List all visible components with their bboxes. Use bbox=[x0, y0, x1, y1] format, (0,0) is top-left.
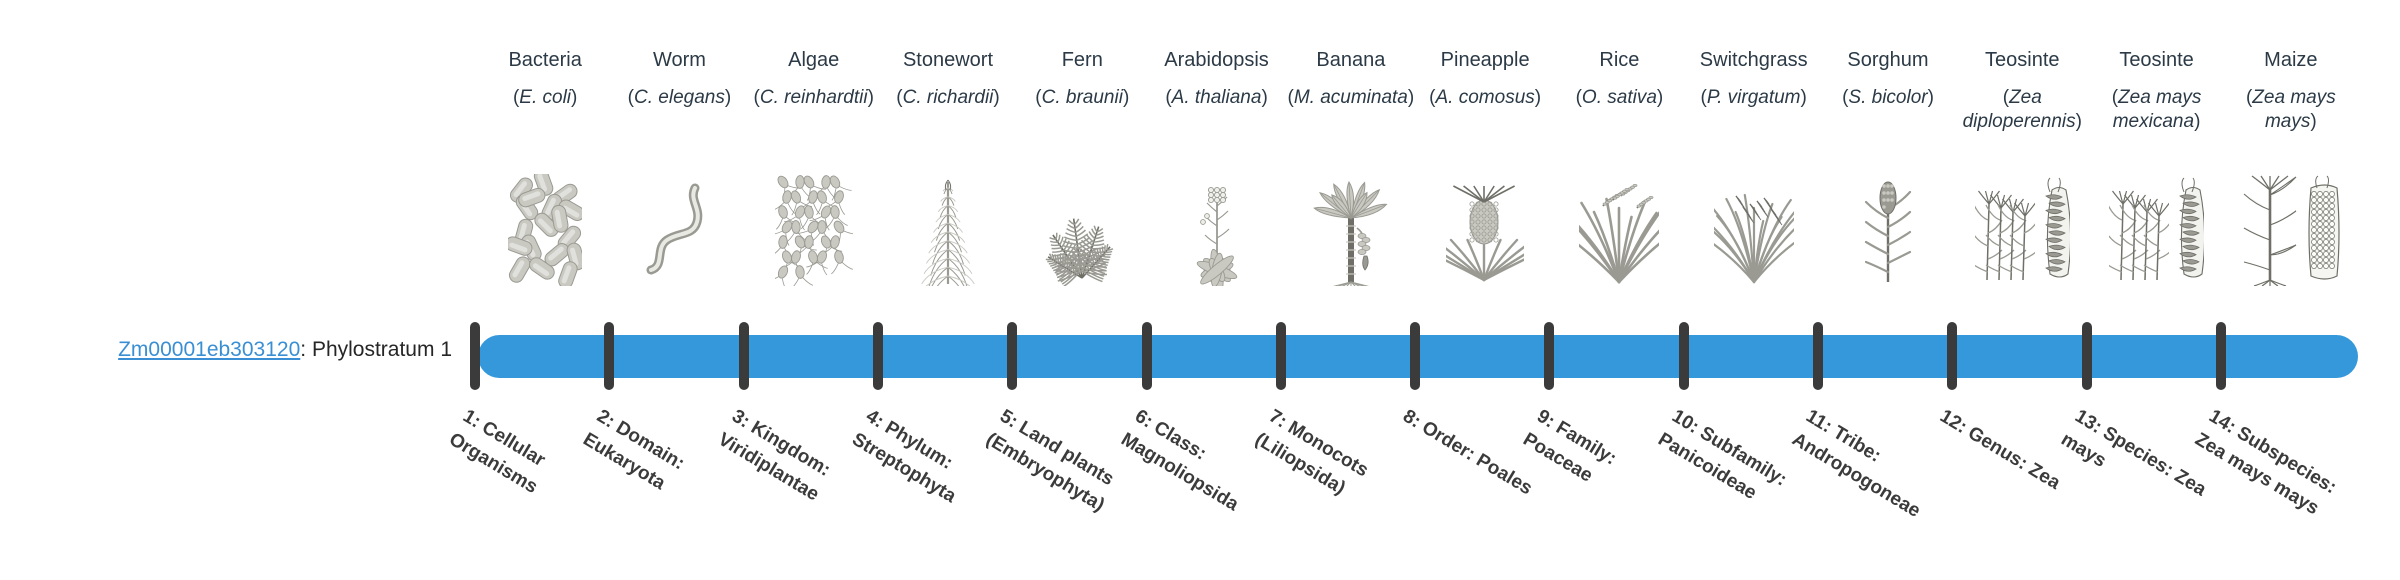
taxon-names: Maize(Zea mays mays) bbox=[2221, 48, 2361, 133]
taxon-common-name: Teosinte bbox=[2087, 48, 2227, 72]
gene-phylostratum-label: Zm00001eb303120: Phylostratum 1 bbox=[0, 338, 452, 362]
taxon-common-name: Algae bbox=[744, 48, 884, 72]
phylostratum-tick[interactable] bbox=[1410, 322, 1420, 390]
taxon-names: Bacteria(E. coli) bbox=[475, 48, 615, 110]
phylostratum-taxon: Zea bbox=[2025, 459, 2064, 494]
taxon-scientific-name: (C. reinhardtii) bbox=[744, 86, 884, 109]
phylostratum-label[interactable]: 1: Cellular Organisms bbox=[443, 404, 599, 527]
phylostratum-tick[interactable] bbox=[1679, 322, 1689, 390]
taxon-scientific-name: (C. richardii) bbox=[878, 86, 1018, 109]
phylostratum-label[interactable]: 12: Genus: Zea bbox=[1934, 404, 2076, 504]
phylostratum-taxon: Poales bbox=[1473, 450, 1536, 500]
stonewort-illustration bbox=[878, 172, 1018, 286]
taxon-names: Teosinte(Zea diploperennis) bbox=[1952, 48, 2092, 133]
taxon-scientific-name: (Zea diploperennis) bbox=[1952, 86, 2092, 132]
taxon-common-name: Pineapple bbox=[1415, 48, 1555, 72]
taxon-common-name: Sorghum bbox=[1818, 48, 1958, 72]
phylostratum-label[interactable]: 8: Order: Poales bbox=[1397, 404, 1539, 504]
taxon-common-name: Switchgrass bbox=[1684, 48, 1824, 72]
phylostratum-tick[interactable] bbox=[739, 322, 749, 390]
taxon-names: Teosinte(Zea mays mexicana) bbox=[2087, 48, 2227, 133]
phylostratigraphy-figure: Zm00001eb303120: Phylostratum 1 Bacteria… bbox=[0, 0, 2400, 580]
gene-label-separator: : bbox=[300, 338, 312, 361]
taxon-scientific-name: (A. thaliana) bbox=[1147, 86, 1287, 109]
taxon-column: Algae(C. reinhardtii)3: Kingdom: Viridip… bbox=[744, 0, 884, 580]
taxon-latin-text: O. sativa bbox=[1582, 87, 1657, 108]
taxon-column: Fern(C. braunii)5: Land plants (Embryoph… bbox=[1012, 0, 1152, 580]
taxon-common-name: Worm bbox=[609, 48, 749, 72]
taxon-column: Bacteria(E. coli)1: Cellular Organisms bbox=[475, 0, 615, 580]
paren-close: ) bbox=[725, 87, 731, 108]
gene-phylostratum-value: Phylostratum 1 bbox=[312, 338, 452, 361]
bacteria-illustration bbox=[475, 172, 615, 286]
maize-illustration bbox=[2221, 172, 2361, 286]
taxon-names: Rice(O. sativa) bbox=[1549, 48, 1689, 110]
paren-close: ) bbox=[1535, 87, 1541, 108]
taxon-scientific-name: (S. bicolor) bbox=[1818, 86, 1958, 109]
taxon-names: Stonewort(C. richardii) bbox=[878, 48, 1018, 110]
phylostratum-rank: Species: bbox=[2099, 423, 2177, 481]
taxon-latin-text: A. thaliana bbox=[1172, 87, 1262, 108]
taxon-scientific-name: (P. virgatum) bbox=[1684, 86, 1824, 109]
phylostratum-tick[interactable] bbox=[1007, 322, 1017, 390]
taxon-common-name: Maize bbox=[2221, 48, 2361, 72]
phylostratum-rank: Genus: bbox=[1965, 423, 2032, 475]
taxon-scientific-name: (A. comosus) bbox=[1415, 86, 1555, 109]
taxon-column: Rice(O. sativa)9: Family: Poaceae bbox=[1549, 0, 1689, 580]
taxon-scientific-name: (Zea mays mexicana) bbox=[2087, 86, 2227, 132]
taxon-names: Banana(M. acuminata) bbox=[1281, 48, 1421, 110]
taxon-latin-text: E. coli bbox=[519, 87, 571, 108]
taxon-latin-text: Zea diploperennis bbox=[1963, 87, 2076, 131]
paren-close: ) bbox=[1801, 87, 1807, 108]
taxon-names: Arabidopsis(A. thaliana) bbox=[1147, 48, 1287, 110]
switchgrass-illustration bbox=[1684, 172, 1824, 286]
taxon-latin-text: M. acuminata bbox=[1294, 87, 1408, 108]
algae-illustration bbox=[744, 172, 884, 286]
taxon-column: Arabidopsis(A. thaliana)6: Class: Magnol… bbox=[1147, 0, 1287, 580]
taxon-latin-text: A. comosus bbox=[1436, 87, 1535, 108]
paren-close: ) bbox=[2310, 111, 2316, 132]
taxon-common-name: Rice bbox=[1549, 48, 1689, 72]
taxon-column: Worm(C. elegans)2: Domain: Eukaryota bbox=[609, 0, 749, 580]
phylostratum-tick[interactable] bbox=[2216, 322, 2226, 390]
taxon-latin-text: Zea mays mexicana bbox=[2113, 87, 2202, 131]
paren-close: ) bbox=[868, 87, 874, 108]
taxon-names: Switchgrass(P. virgatum) bbox=[1684, 48, 1824, 110]
gene-accession-link[interactable]: Zm00001eb303120 bbox=[118, 338, 300, 361]
taxon-scientific-name: (E. coli) bbox=[475, 86, 615, 109]
taxon-column: Switchgrass(P. virgatum)10: Subfamily: P… bbox=[1684, 0, 1824, 580]
taxon-common-name: Fern bbox=[1012, 48, 1152, 72]
taxon-common-name: Teosinte bbox=[1952, 48, 2092, 72]
teosinte-mexicana-illustration bbox=[2087, 172, 2227, 286]
rice-illustration bbox=[1549, 172, 1689, 286]
fern-illustration bbox=[1012, 172, 1152, 286]
taxon-column: Banana(M. acuminata)7: Monocots (Liliops… bbox=[1281, 0, 1421, 580]
phylostratum-tick[interactable] bbox=[873, 322, 883, 390]
taxon-common-name: Bacteria bbox=[475, 48, 615, 72]
taxon-scientific-name: (C. elegans) bbox=[609, 86, 749, 109]
taxon-common-name: Banana bbox=[1281, 48, 1421, 72]
taxon-latin-text: S. bicolor bbox=[1848, 87, 1927, 108]
taxon-column: Teosinte(Zea diploperennis)12: Genus: Ze… bbox=[1952, 0, 2092, 580]
phylostratum-tick[interactable] bbox=[604, 322, 614, 390]
taxon-common-name: Arabidopsis bbox=[1147, 48, 1287, 72]
phylostratum-tick[interactable] bbox=[1142, 322, 1152, 390]
taxon-names: Sorghum(S. bicolor) bbox=[1818, 48, 1958, 110]
taxon-latin-text: C. braunii bbox=[1042, 87, 1123, 108]
paren-close: ) bbox=[1657, 87, 1663, 108]
taxon-latin-text: P. virgatum bbox=[1707, 87, 1801, 108]
taxon-latin-text: Zea mays mays bbox=[2252, 87, 2335, 131]
pineapple-illustration bbox=[1415, 172, 1555, 286]
taxon-names: Algae(C. reinhardtii) bbox=[744, 48, 884, 110]
phylostratum-tick[interactable] bbox=[1813, 322, 1823, 390]
paren-close: ) bbox=[1261, 87, 1267, 108]
phylostratum-tick[interactable] bbox=[470, 322, 480, 390]
banana-illustration bbox=[1281, 172, 1421, 286]
taxon-latin-text: C. elegans bbox=[634, 87, 725, 108]
paren-close: ) bbox=[571, 87, 577, 108]
taxon-scientific-name: (M. acuminata) bbox=[1281, 86, 1421, 109]
taxon-latin-text: C. richardii bbox=[903, 87, 994, 108]
taxon-names: Pineapple(A. comosus) bbox=[1415, 48, 1555, 110]
paren-close: ) bbox=[1928, 87, 1934, 108]
phylostratum-rank: Order: bbox=[1418, 417, 1479, 465]
phylostratum-tick[interactable] bbox=[2082, 322, 2092, 390]
phylostratum-label-wrap: 14: Subspecies: Zea mays mays bbox=[2217, 404, 2400, 574]
taxon-common-name: Stonewort bbox=[878, 48, 1018, 72]
arabidopsis-illustration bbox=[1147, 172, 1287, 286]
paren-close: ) bbox=[1408, 87, 1414, 108]
sorghum-illustration bbox=[1818, 172, 1958, 286]
taxa-track: Bacteria(E. coli)1: Cellular OrganismsWo… bbox=[478, 0, 2358, 580]
paren-close: ) bbox=[2076, 111, 2082, 132]
phylostratum-tick[interactable] bbox=[1276, 322, 1286, 390]
paren-close: ) bbox=[1123, 87, 1129, 108]
taxon-names: Worm(C. elegans) bbox=[609, 48, 749, 110]
phylostratum-tick[interactable] bbox=[1947, 322, 1957, 390]
paren-close: ) bbox=[993, 87, 999, 108]
paren-close: ) bbox=[2194, 111, 2200, 132]
taxon-column: Teosinte(Zea mays mexicana)13: Species: … bbox=[2087, 0, 2227, 580]
taxon-latin-text: C. reinhardtii bbox=[760, 87, 868, 108]
taxon-names: Fern(C. braunii) bbox=[1012, 48, 1152, 110]
taxon-scientific-name: (Zea mays mays) bbox=[2221, 86, 2361, 132]
taxon-column: Pineapple(A. comosus)8: Order: Poales bbox=[1415, 0, 1555, 580]
taxon-scientific-name: (O. sativa) bbox=[1549, 86, 1689, 109]
taxon-column: Sorghum(S. bicolor)11: Tribe: Andropogon… bbox=[1818, 0, 1958, 580]
taxon-column: Maize(Zea mays mays)14: Subspecies: Zea … bbox=[2221, 0, 2361, 580]
phylostratum-tick[interactable] bbox=[1544, 322, 1554, 390]
teosinte-diploperennis-illustration bbox=[1952, 172, 2092, 286]
taxon-column: Stonewort(C. richardii)4: Phylum: Strept… bbox=[878, 0, 1018, 580]
taxon-scientific-name: (C. braunii) bbox=[1012, 86, 1152, 109]
nematode-illustration bbox=[609, 172, 749, 286]
